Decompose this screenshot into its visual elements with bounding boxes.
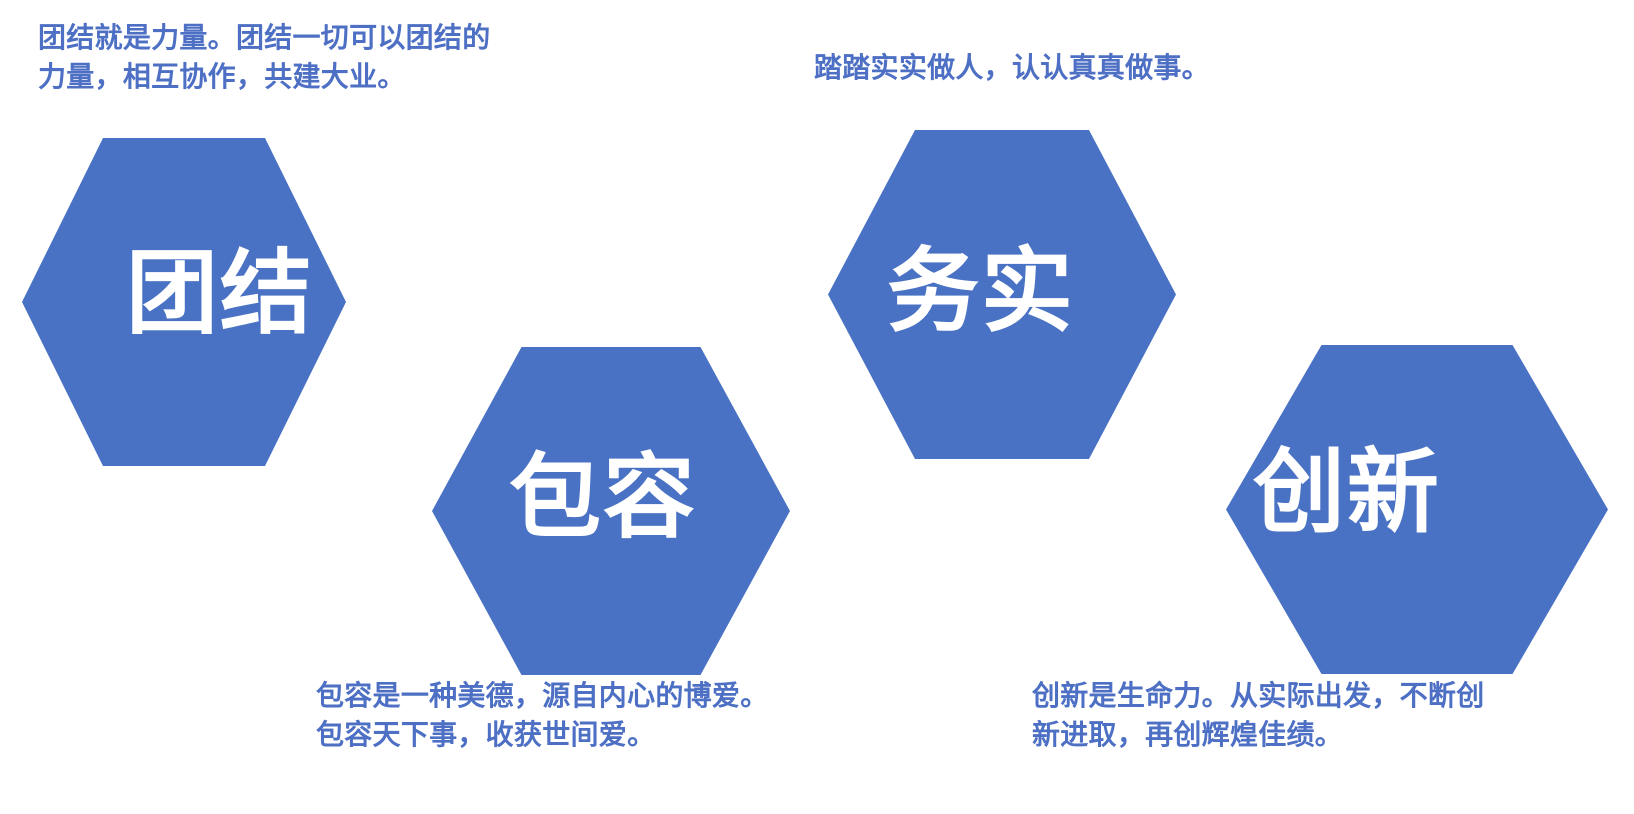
caption-tuanjie: 团结就是力量。团结一切可以团结的 力量，相互协作，共建大业。 — [38, 18, 638, 96]
hexagon-label-baorong: 包容 — [432, 452, 852, 544]
slide-canvas: 团结就是力量。团结一切可以团结的 力量，相互协作，共建大业。 踏踏实实做人，认认… — [0, 0, 1634, 814]
hexagon-label-tuanjie: 团结 — [22, 248, 412, 340]
caption-wushi: 踏踏实实做人，认认真真做事。 — [814, 48, 1374, 87]
caption-baorong: 包容是一种美德，源自内心的博爱。 包容天下事，收获世间爱。 — [316, 676, 916, 754]
caption-chuangxin: 创新是生命力。从实际出发，不断创 新进取，再创辉煌佳绩。 — [1032, 676, 1632, 754]
hexagon-label-wushi: 务实 — [828, 246, 1248, 338]
hexagon-label-chuangxin: 创新 — [1226, 447, 1634, 539]
